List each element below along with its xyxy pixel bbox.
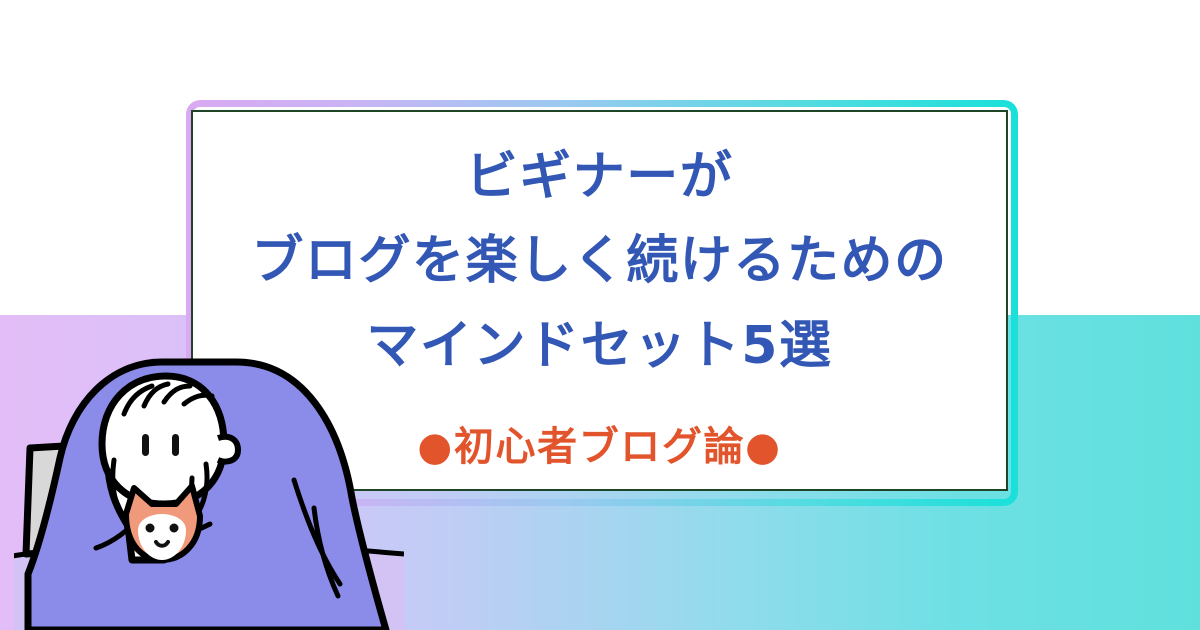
ear bbox=[218, 437, 238, 462]
title-line-3: マインドセット5選 bbox=[366, 304, 832, 388]
eye-right bbox=[172, 434, 179, 456]
eye-left bbox=[142, 434, 149, 456]
title-line-1: ビギナーが bbox=[466, 135, 734, 219]
cat-eye-left bbox=[146, 524, 155, 533]
person-in-blanket-with-cat-at-laptop-illustration bbox=[14, 348, 404, 630]
subtitle-tag: ●初心者ブログ論● bbox=[417, 414, 781, 472]
thumbnail-canvas: ビギナーが ブログを楽しく続けるための マインドセット5選 ●初心者ブログ論● bbox=[0, 0, 1200, 630]
title-line-2: ブログを楽しく続けるための bbox=[251, 219, 947, 303]
person-in-blanket bbox=[28, 362, 386, 630]
cat-eye-right bbox=[170, 524, 179, 533]
